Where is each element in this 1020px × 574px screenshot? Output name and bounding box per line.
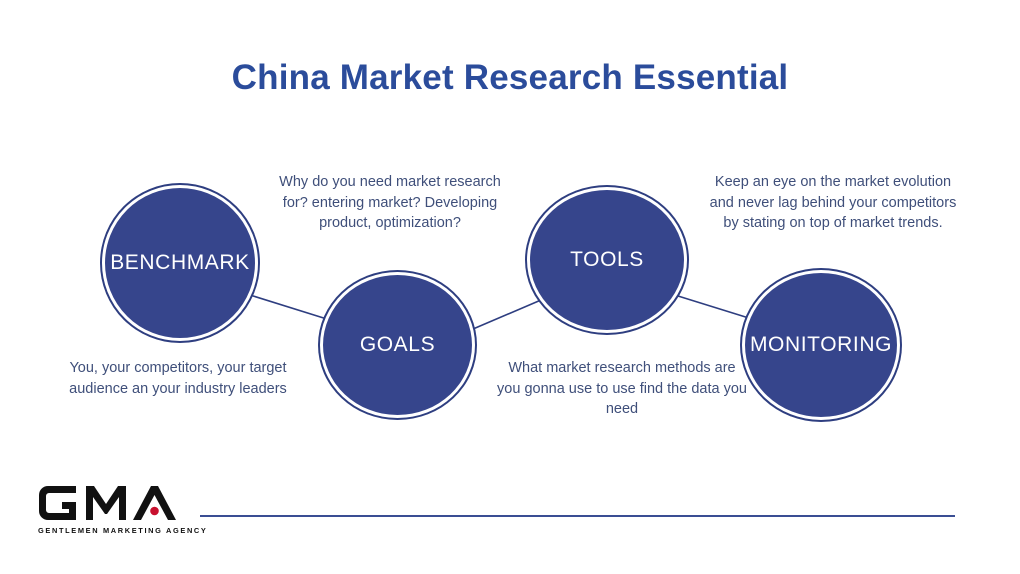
slide-canvas: China Market Research Essential BENCHMAR… bbox=[0, 0, 1020, 574]
node-tools-label: TOOLS bbox=[570, 248, 644, 271]
gma-logo: GENTLEMEN MARKETING AGENCY bbox=[38, 482, 190, 535]
caption-benchmark: You, your competitors, your target audie… bbox=[62, 358, 294, 399]
node-goals-label: GOALS bbox=[360, 333, 435, 356]
node-benchmark-label: BENCHMARK bbox=[110, 251, 250, 274]
node-monitoring[interactable]: MONITORING bbox=[742, 270, 900, 420]
caption-monitoring: Keep an eye on the market evolution and … bbox=[708, 172, 958, 234]
node-monitoring-label: MONITORING bbox=[750, 333, 892, 356]
caption-goals: Why do you need market research for? ent… bbox=[272, 172, 508, 234]
node-tools[interactable]: TOOLS bbox=[527, 187, 687, 333]
node-benchmark[interactable]: BENCHMARK bbox=[102, 185, 258, 341]
logo-red-dot-icon bbox=[150, 507, 159, 516]
gma-wordmark-icon bbox=[38, 482, 190, 522]
footer-divider bbox=[200, 515, 955, 517]
page-title: China Market Research Essential bbox=[0, 58, 1020, 98]
connector-benchmark-goals bbox=[250, 295, 330, 320]
caption-tools: What market research methods are you gon… bbox=[497, 358, 747, 420]
node-goals[interactable]: GOALS bbox=[320, 272, 475, 418]
connector-tools-monitoring bbox=[678, 296, 752, 319]
connector-goals-tools bbox=[466, 300, 541, 332]
gma-logo-subtitle: GENTLEMEN MARKETING AGENCY bbox=[38, 526, 190, 535]
